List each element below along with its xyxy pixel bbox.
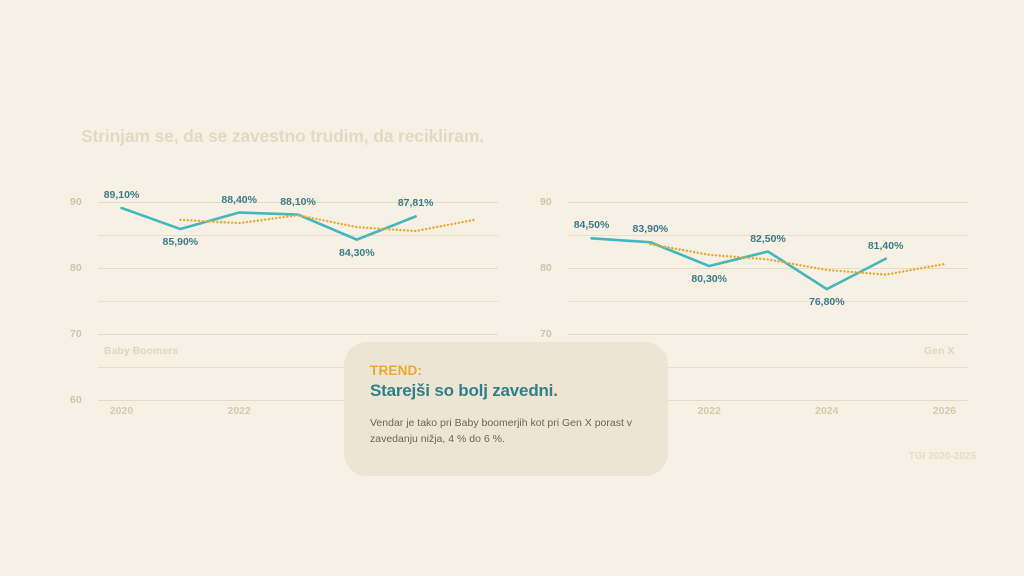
- x-axis-tick-label: 2026: [933, 405, 956, 417]
- page-title: Strinjam se, da se zavestno trudim, da r…: [81, 126, 484, 147]
- data-point-label: 88,40%: [221, 194, 257, 206]
- data-point-label: 88,10%: [280, 196, 316, 208]
- y-axis-tick-label: 70: [70, 328, 100, 340]
- data-point-label: 84,50%: [574, 219, 610, 231]
- data-point-label: 87,81%: [398, 197, 434, 209]
- x-axis-tick-label: 2022: [227, 405, 250, 417]
- y-axis-tick-label: 90: [70, 196, 100, 208]
- y-axis-tick-label: 70: [540, 328, 570, 340]
- chart-label-gen-x: Gen X: [924, 345, 954, 357]
- trend-callout-card: TREND: Starejši so bolj zavedni. Vendar …: [344, 342, 668, 476]
- y-axis-tick-label: 80: [540, 262, 570, 274]
- data-point-label: 76,80%: [809, 296, 845, 308]
- source-note: TGI 2020-2025: [909, 451, 976, 462]
- data-point-label: 80,30%: [691, 273, 727, 285]
- data-point-label: 82,50%: [750, 233, 786, 245]
- data-point-label: 83,90%: [633, 223, 669, 235]
- x-axis-tick-label: 2022: [697, 405, 720, 417]
- x-axis-tick-label: 2024: [815, 405, 838, 417]
- y-axis-tick-label: 60: [70, 394, 100, 406]
- y-axis-tick-label: 90: [540, 196, 570, 208]
- slide-canvas: Strinjam se, da se zavestno trudim, da r…: [0, 0, 1024, 576]
- data-point-label: 84,30%: [339, 247, 375, 259]
- x-axis-tick-label: 2020: [110, 405, 133, 417]
- series-line-solid: [122, 208, 416, 240]
- data-point-label: 89,10%: [104, 189, 140, 201]
- data-point-label: 81,40%: [868, 240, 904, 252]
- callout-headline: Starejši so bolj zavedni.: [370, 380, 642, 401]
- callout-body: Vendar je tako pri Baby boomerjih kot pr…: [370, 416, 642, 448]
- callout-kicker: TREND:: [370, 363, 642, 379]
- series-line-solid: [592, 238, 886, 289]
- y-axis-tick-label: 80: [70, 262, 100, 274]
- chart-label-baby-boomers: Baby Boomers: [104, 345, 178, 357]
- data-point-label: 85,90%: [163, 236, 199, 248]
